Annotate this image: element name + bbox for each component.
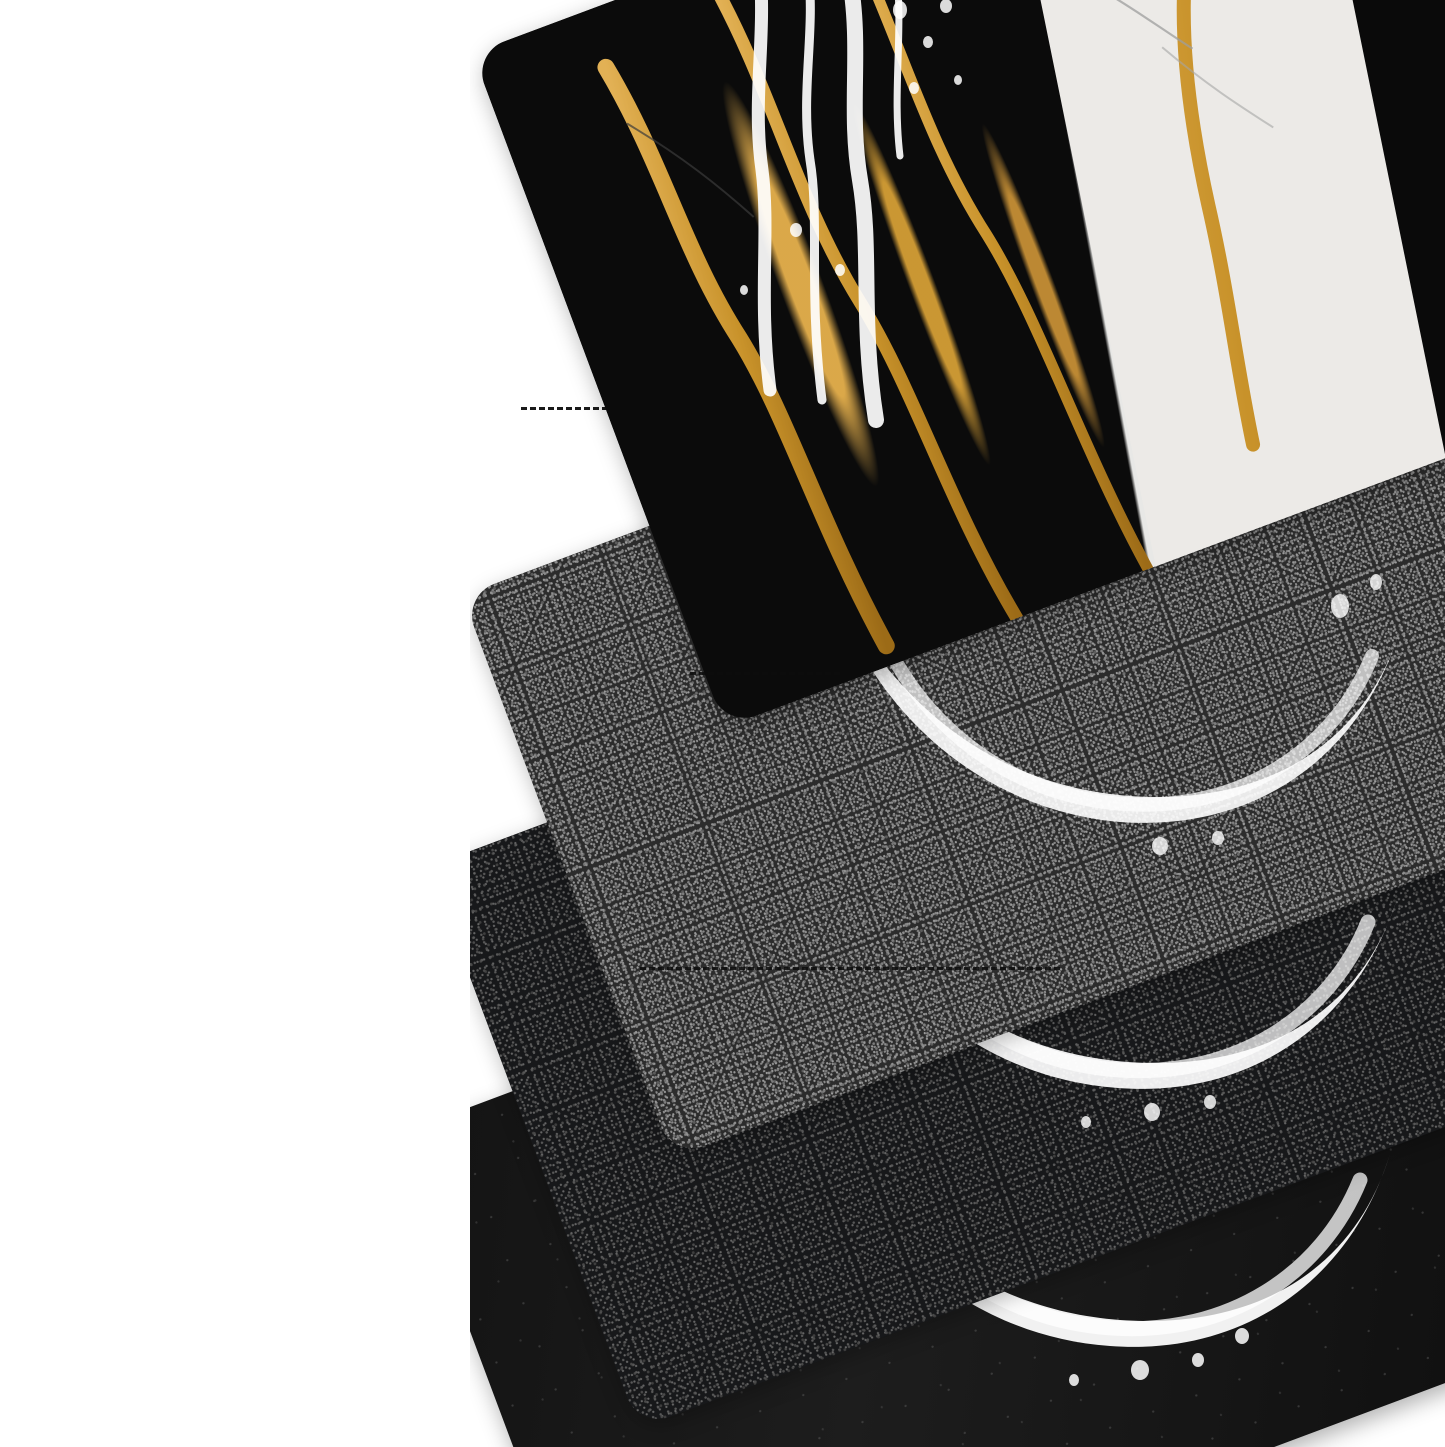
product-infographic: SUPER ABSORPTION Easy to Clean & Anti-st… <box>0 0 1445 1447</box>
leader-line-foam-overlay <box>640 967 1060 970</box>
leader-line-sponge-overlay <box>690 672 840 675</box>
left-background-mask <box>0 0 470 1447</box>
